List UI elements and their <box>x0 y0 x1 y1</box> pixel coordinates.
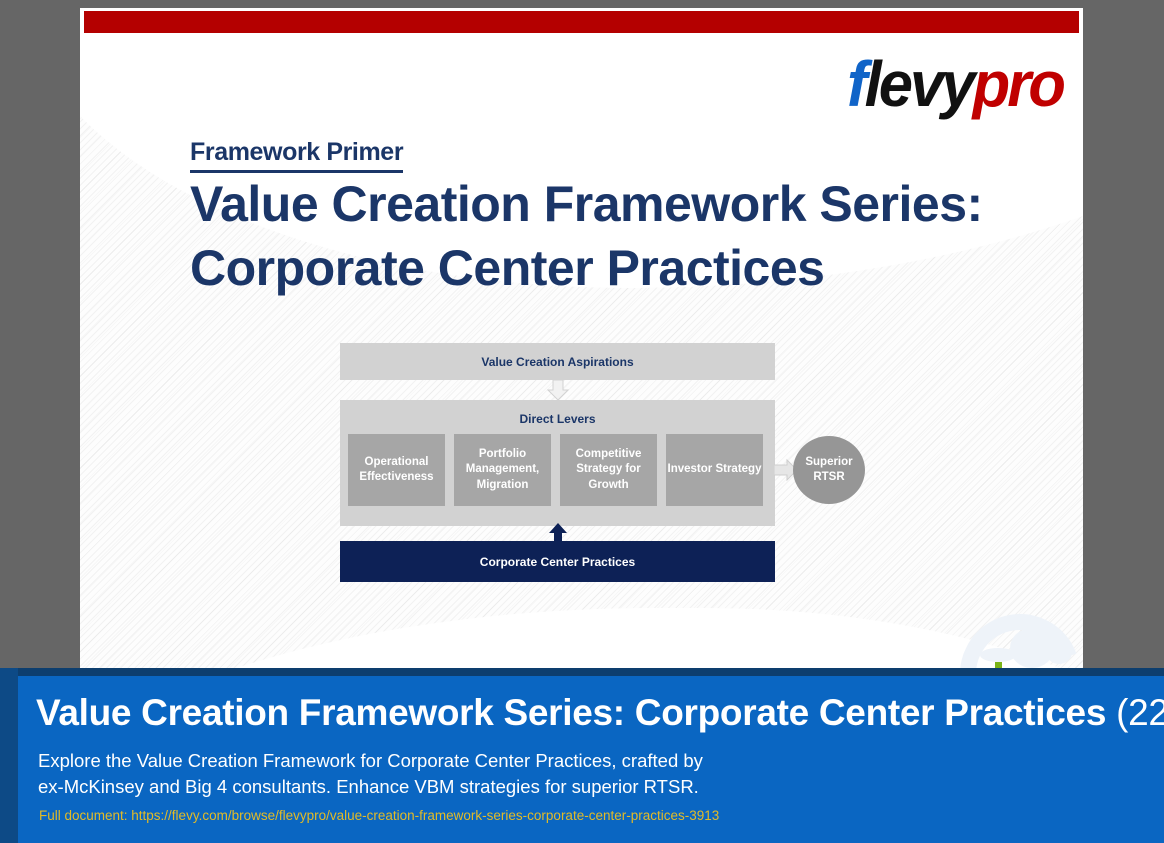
lever-box-portfolio-management: Portfolio Management, Migration <box>454 434 551 506</box>
foundation-label: Corporate Center Practices <box>340 555 775 569</box>
banner-description: Explore the Value Creation Framework for… <box>38 748 838 801</box>
diagram-outcome-superior-rtsr: Superior RTSR <box>793 436 865 504</box>
banner-title-main: Value Creation Framework Series: Corpora… <box>36 692 1106 733</box>
banner-product-title: Value Creation Framework Series: Corpora… <box>36 692 1164 734</box>
diagram-direct-levers-container: Direct Levers Operational Effectiveness … <box>340 400 775 526</box>
banner-top-strip <box>0 668 1164 676</box>
diagram-aspirations-bar: Value Creation Aspirations <box>340 343 775 380</box>
banner-description-line-1: Explore the Value Creation Framework for… <box>38 748 838 774</box>
lever-box-investor-strategy: Investor Strategy <box>666 434 763 506</box>
outcome-label: Superior RTSR <box>793 455 865 485</box>
lever-label-3: Competitive Strategy for Growth <box>560 447 657 493</box>
arrow-up-icon <box>548 523 568 543</box>
banner-document-url[interactable]: Full document: https://flevy.com/browse/… <box>39 808 719 823</box>
page-root: flevypro Framework Primer Value Creation… <box>0 0 1164 843</box>
lever-label-2: Portfolio Management, Migration <box>454 447 551 493</box>
banner-description-line-2: ex-McKinsey and Big 4 consultants. Enhan… <box>38 774 838 800</box>
lever-label-4: Investor Strategy <box>668 462 762 477</box>
lever-box-operational-effectiveness: Operational Effectiveness <box>348 434 445 506</box>
banner-left-strip <box>0 668 18 843</box>
slide-preview[interactable]: flevypro Framework Primer Value Creation… <box>80 8 1083 668</box>
diagram-foundation-corporate-center-practices: Corporate Center Practices <box>340 541 775 582</box>
value-creation-diagram: Value Creation Aspirations Direct Levers… <box>80 8 1083 668</box>
banner-title-suffix: (22-s <box>1106 692 1164 733</box>
lever-label-1: Operational Effectiveness <box>348 455 445 486</box>
direct-levers-label: Direct Levers <box>340 412 775 426</box>
aspirations-label: Value Creation Aspirations <box>340 355 775 369</box>
lever-box-competitive-strategy: Competitive Strategy for Growth <box>560 434 657 506</box>
arrow-down-icon <box>547 380 569 400</box>
